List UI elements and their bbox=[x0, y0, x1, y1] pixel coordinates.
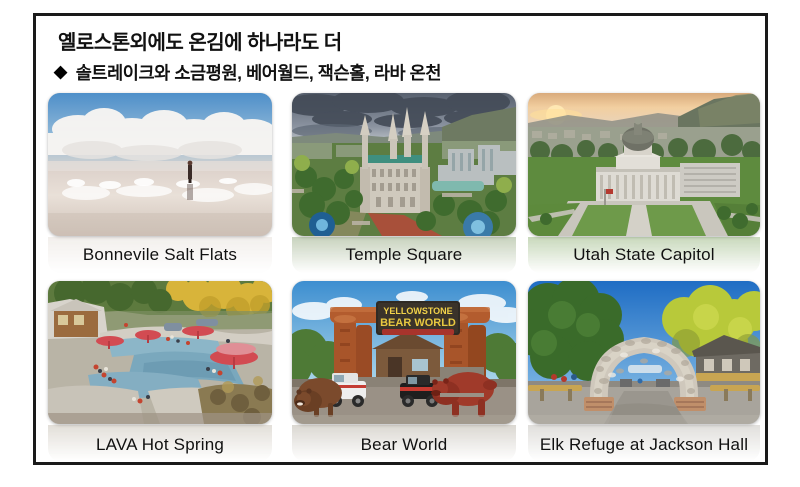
photo-card[interactable]: YELLOWSTONE BEAR WORLD bbox=[292, 281, 516, 461]
photo-card[interactable]: Elk Refuge at Jackson Hall bbox=[528, 281, 760, 461]
slide-frame: 옐로스톤외에도 온김에 하나라도 더 ◆ 솔트레이크와 소금평원, 베어월드, … bbox=[33, 13, 768, 465]
photo-grid: Bonnevile Salt Flats bbox=[36, 89, 768, 465]
page-title: 옐로스톤외에도 온김에 하나라도 더 bbox=[58, 26, 342, 55]
sign-line1: YELLOWSTONE bbox=[383, 306, 452, 316]
slide-subtitle: ◆ 솔트레이크와 소금평원, 베어월드, 잭슨홀, 라바 온천 bbox=[54, 60, 441, 85]
photo-caption: LAVA Hot Spring bbox=[48, 435, 272, 455]
photo-card[interactable]: Temple Square bbox=[292, 93, 516, 273]
photo-card[interactable]: LAVA Hot Spring bbox=[48, 281, 272, 461]
bear-world-sign: YELLOWSTONE BEAR WORLD bbox=[376, 301, 460, 335]
slide-subtitle-text: 솔트레이크와 소금평원, 베어월드, 잭슨홀, 라바 온천 bbox=[76, 60, 441, 85]
photo-caption: Temple Square bbox=[292, 245, 516, 265]
photo-caption: Bonnevile Salt Flats bbox=[48, 245, 272, 265]
elk-antler-arch-photo bbox=[528, 281, 760, 424]
yellowstone-bear-world-photo: YELLOWSTONE BEAR WORLD bbox=[292, 281, 516, 424]
photo-card[interactable]: Bonnevile Salt Flats bbox=[48, 93, 272, 273]
photo-caption: Elk Refuge at Jackson Hall bbox=[528, 435, 760, 455]
photo-card[interactable]: Utah State Capitol bbox=[528, 93, 760, 273]
diamond-bullet-icon: ◆ bbox=[54, 63, 67, 80]
sign-line2: BEAR WORLD bbox=[380, 317, 456, 329]
bonneville-salt-flats-photo bbox=[48, 93, 272, 236]
utah-state-capitol-photo bbox=[528, 93, 760, 236]
photo-caption: Utah State Capitol bbox=[528, 245, 760, 265]
lava-hot-spring-photo bbox=[48, 281, 272, 424]
temple-square-photo bbox=[292, 93, 516, 236]
photo-caption: Bear World bbox=[292, 435, 516, 455]
